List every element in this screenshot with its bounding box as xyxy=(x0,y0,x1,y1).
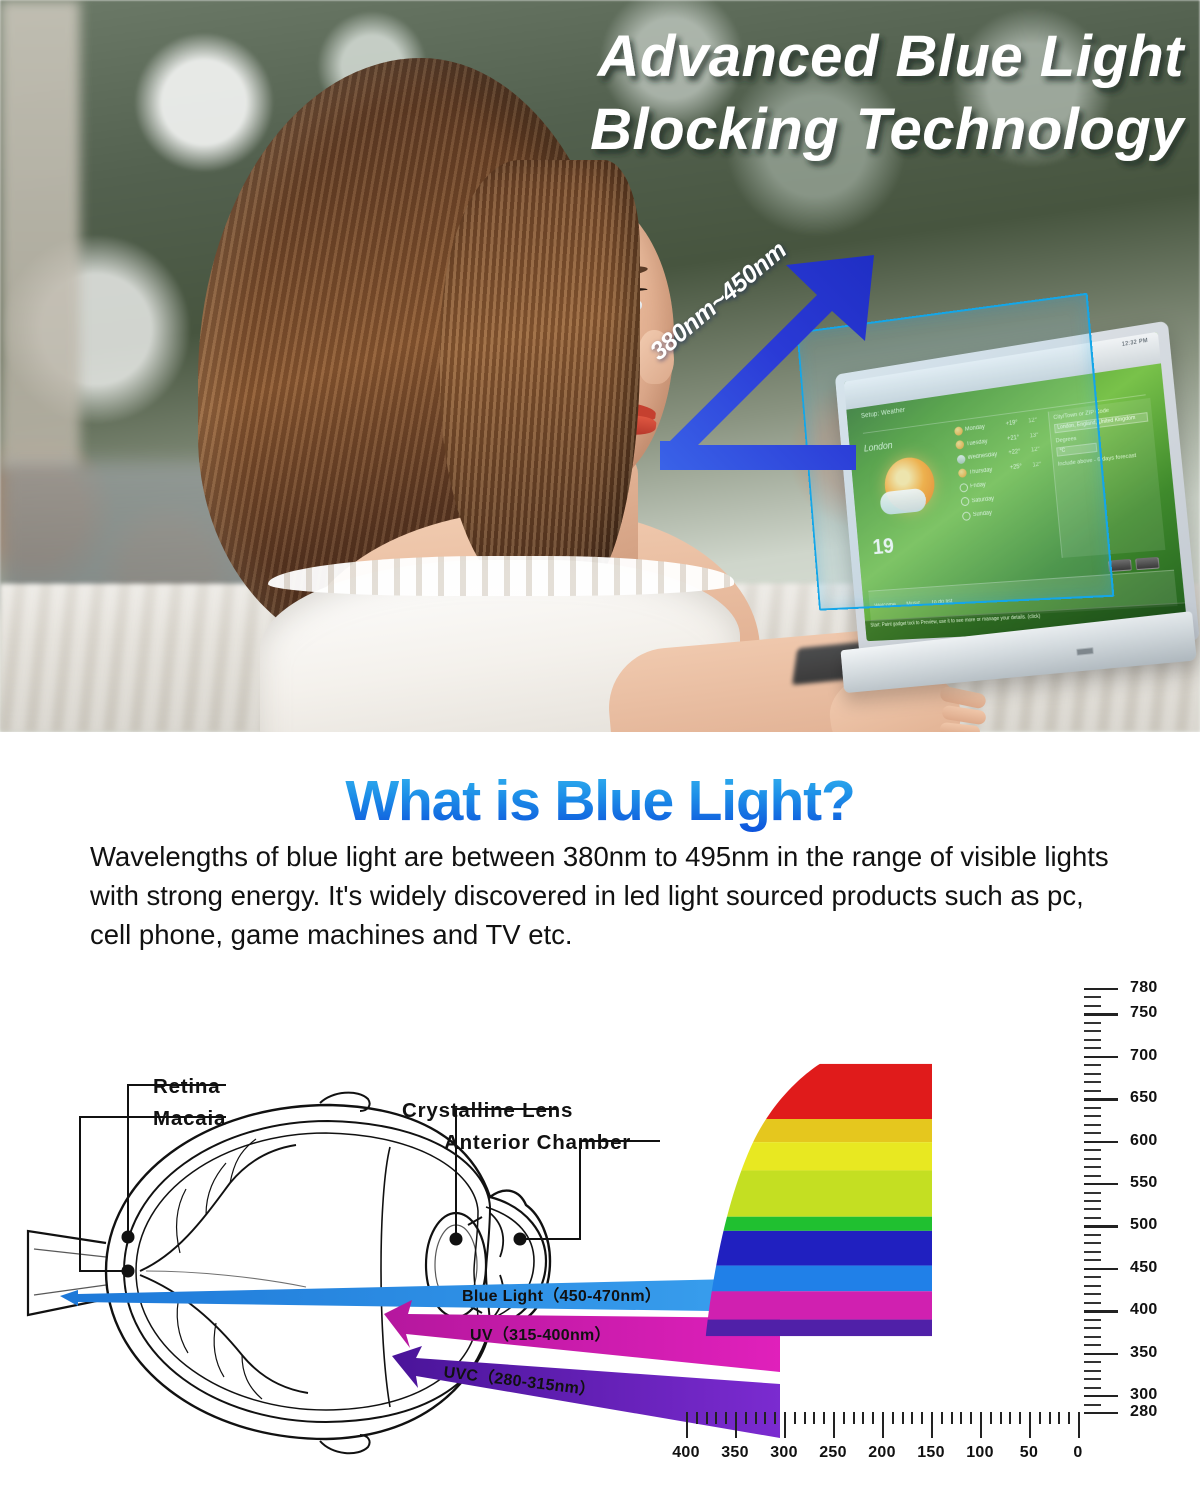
headline-line-1: Advanced Blue Light xyxy=(596,24,1187,89)
x-tick-label: 250 xyxy=(819,1444,847,1462)
band-yellow xyxy=(680,1142,932,1170)
x-tick-minor xyxy=(1019,1412,1021,1424)
x-tick-minor xyxy=(764,1412,766,1424)
x-tick-minor xyxy=(911,1412,913,1424)
y-tick-minor xyxy=(1084,1387,1101,1389)
y-tick-minor xyxy=(1084,1234,1101,1236)
x-tick-minor xyxy=(1058,1412,1060,1424)
y-tick-minor xyxy=(1084,1319,1101,1321)
x-tick-minor xyxy=(1039,1412,1041,1424)
x-tick-minor xyxy=(706,1412,708,1424)
band-green xyxy=(680,1217,932,1231)
x-tick-major xyxy=(1078,1412,1080,1438)
x-tick-minor xyxy=(1009,1412,1011,1424)
x-tick-minor xyxy=(892,1412,894,1424)
y-tick-minor xyxy=(1084,1124,1101,1126)
y-tick-major xyxy=(1084,1183,1118,1185)
y-tick-label: 350 xyxy=(1130,1344,1158,1362)
y-tick-major xyxy=(1084,1141,1118,1143)
y-tick-minor xyxy=(1084,1090,1101,1092)
x-tick-minor xyxy=(951,1412,953,1424)
x-tick-major xyxy=(686,1412,688,1438)
cancel-button[interactable] xyxy=(1135,556,1160,569)
x-tick-minor xyxy=(715,1412,717,1424)
x-tick-minor xyxy=(725,1412,727,1424)
y-tick-label: 780 xyxy=(1130,979,1158,997)
y-tick-minor xyxy=(1084,1327,1101,1329)
y-tick-major xyxy=(1084,1395,1118,1397)
y-tick-minor xyxy=(1084,1404,1101,1406)
x-tick-minor xyxy=(1068,1412,1070,1424)
y-tick-label: 650 xyxy=(1130,1089,1158,1107)
section-heading: What is Blue Light? xyxy=(0,768,1200,834)
y-tick-major xyxy=(1084,1412,1118,1414)
x-tick-minor xyxy=(941,1412,943,1424)
y-tick-label: 400 xyxy=(1130,1301,1158,1319)
x-tick-label: 400 xyxy=(672,1444,700,1462)
x-tick-major xyxy=(931,1412,933,1438)
x-tick-major xyxy=(735,1412,737,1438)
hero-background-wall xyxy=(0,0,80,470)
screen-buttons xyxy=(1108,556,1160,571)
spectrum-bands xyxy=(680,988,932,1412)
x-axis: 400350300250200150100500 xyxy=(680,1412,1084,1474)
y-tick-minor xyxy=(1084,1166,1101,1168)
x-tick-major xyxy=(980,1412,982,1438)
x-tick-major xyxy=(833,1412,835,1438)
x-tick-label: 0 xyxy=(1073,1444,1082,1462)
y-tick-minor xyxy=(1084,1005,1101,1007)
y-tick-major xyxy=(1084,1225,1118,1227)
band-red xyxy=(680,1064,932,1119)
band-ultraviolet xyxy=(680,1320,932,1337)
y-tick-label: 280 xyxy=(1130,1403,1158,1421)
y-tick-minor xyxy=(1084,1149,1101,1151)
y-tick-minor xyxy=(1084,1175,1101,1177)
blue-light-arrow: 380nm~450nm xyxy=(660,255,890,470)
y-tick-major xyxy=(1084,988,1118,990)
y-tick-major xyxy=(1084,1268,1118,1270)
x-tick-minor xyxy=(921,1412,923,1424)
y-tick-minor xyxy=(1084,1370,1101,1372)
eye-spectrum-diagram: Retina Macaia Crystalline Lens Anterior … xyxy=(0,980,1200,1500)
x-tick-minor xyxy=(960,1412,962,1424)
y-tick-minor xyxy=(1084,1107,1101,1109)
y-tick-minor xyxy=(1084,1251,1101,1253)
hair-front-strands xyxy=(440,160,640,600)
y-tick-minor xyxy=(1084,1081,1101,1083)
x-tick-major xyxy=(784,1412,786,1438)
y-tick-minor xyxy=(1084,1022,1101,1024)
y-tick-minor xyxy=(1084,1293,1101,1295)
x-tick-minor xyxy=(794,1412,796,1424)
y-tick-label: 550 xyxy=(1130,1174,1158,1192)
y-tick-minor xyxy=(1084,1030,1101,1032)
x-tick-minor xyxy=(813,1412,815,1424)
x-tick-label: 200 xyxy=(868,1444,896,1462)
y-tick-label: 500 xyxy=(1130,1216,1158,1234)
band-violet xyxy=(680,1291,932,1319)
y-tick-major xyxy=(1084,1353,1118,1355)
y-tick-major xyxy=(1084,1310,1118,1312)
y-tick-minor xyxy=(1084,996,1101,998)
beam-label-uv: UV（315-400nm） xyxy=(470,1321,611,1345)
band-orange xyxy=(680,1119,932,1142)
y-tick-label: 300 xyxy=(1130,1386,1158,1404)
x-tick-minor xyxy=(853,1412,855,1424)
label-anterior-chamber: Anterior Chamber xyxy=(444,1131,631,1155)
y-tick-minor xyxy=(1084,1378,1101,1380)
x-tick-label: 300 xyxy=(770,1444,798,1462)
label-macaia: Macaia xyxy=(153,1107,226,1131)
band-indigo xyxy=(680,1231,932,1266)
y-tick-minor xyxy=(1084,1217,1101,1219)
x-tick-minor xyxy=(902,1412,904,1424)
x-tick-minor xyxy=(823,1412,825,1424)
y-tick-major xyxy=(1084,1056,1118,1058)
x-tick-minor xyxy=(970,1412,972,1424)
x-tick-minor xyxy=(755,1412,757,1424)
label-retina: Retina xyxy=(153,1075,220,1099)
y-tick-minor xyxy=(1084,1276,1101,1278)
x-tick-minor xyxy=(872,1412,874,1424)
y-tick-minor xyxy=(1084,1259,1101,1261)
section-paragraph: Wavelengths of blue light are between 38… xyxy=(90,838,1116,954)
x-tick-label: 350 xyxy=(721,1444,749,1462)
y-tick-minor xyxy=(1084,1192,1101,1194)
x-tick-label: 100 xyxy=(966,1444,994,1462)
x-tick-minor xyxy=(990,1412,992,1424)
y-tick-minor xyxy=(1084,1302,1101,1304)
y-tick-minor xyxy=(1084,1208,1101,1210)
y-tick-label: 600 xyxy=(1130,1132,1158,1150)
y-tick-minor xyxy=(1084,1344,1101,1346)
headline-line-2: Blocking Technology xyxy=(590,97,1186,162)
y-tick-minor xyxy=(1084,1242,1101,1244)
x-tick-minor xyxy=(1049,1412,1051,1424)
x-tick-minor xyxy=(843,1412,845,1424)
x-tick-major xyxy=(882,1412,884,1438)
x-tick-minor xyxy=(862,1412,864,1424)
y-tick-minor xyxy=(1084,1073,1101,1075)
y-tick-minor xyxy=(1084,1361,1101,1363)
infographic-page: 12:32 PM Setup: Weather London 19 Monday… xyxy=(0,0,1200,1500)
y-tick-major xyxy=(1084,1098,1118,1100)
y-tick-minor xyxy=(1084,1064,1101,1066)
x-tick-minor xyxy=(696,1412,698,1424)
y-tick-minor xyxy=(1084,1336,1101,1338)
y-axis: 780750700650600550500450400350300280 xyxy=(1084,980,1200,1420)
band-yellow-green xyxy=(680,1170,932,1216)
spectrum-chart: 780750700650600550500450400350300280 400… xyxy=(660,980,1200,1480)
arrow-icon xyxy=(660,255,890,470)
x-tick-minor xyxy=(1000,1412,1002,1424)
y-tick-minor xyxy=(1084,1200,1101,1202)
band-blue xyxy=(680,1266,932,1292)
hero-photo: 12:32 PM Setup: Weather London 19 Monday… xyxy=(0,0,1200,732)
y-tick-label: 450 xyxy=(1130,1259,1158,1277)
hero-headline: Advanced Blue Light Blocking Technology xyxy=(500,18,1190,182)
y-tick-major xyxy=(1084,1013,1118,1015)
y-tick-label: 700 xyxy=(1130,1047,1158,1065)
beam-label-blue-light: Blue Light（450-470nm） xyxy=(462,1282,661,1306)
x-tick-minor xyxy=(745,1412,747,1424)
x-tick-label: 50 xyxy=(1020,1444,1038,1462)
x-tick-minor xyxy=(774,1412,776,1424)
y-tick-minor xyxy=(1084,1039,1101,1041)
spectrum-band-group xyxy=(680,1064,932,1337)
y-tick-minor xyxy=(1084,1158,1101,1160)
y-tick-minor xyxy=(1084,1047,1101,1049)
x-tick-label: 150 xyxy=(917,1444,945,1462)
y-tick-minor xyxy=(1084,1132,1101,1134)
y-tick-label: 750 xyxy=(1130,1004,1158,1022)
x-tick-major xyxy=(1029,1412,1031,1438)
blue-light-explainer: What is Blue Light? Wavelengths of blue … xyxy=(0,732,1200,980)
y-tick-minor xyxy=(1084,1115,1101,1117)
x-tick-minor xyxy=(804,1412,806,1424)
label-crystalline-lens: Crystalline Lens xyxy=(402,1099,573,1123)
y-tick-minor xyxy=(1084,1285,1101,1287)
